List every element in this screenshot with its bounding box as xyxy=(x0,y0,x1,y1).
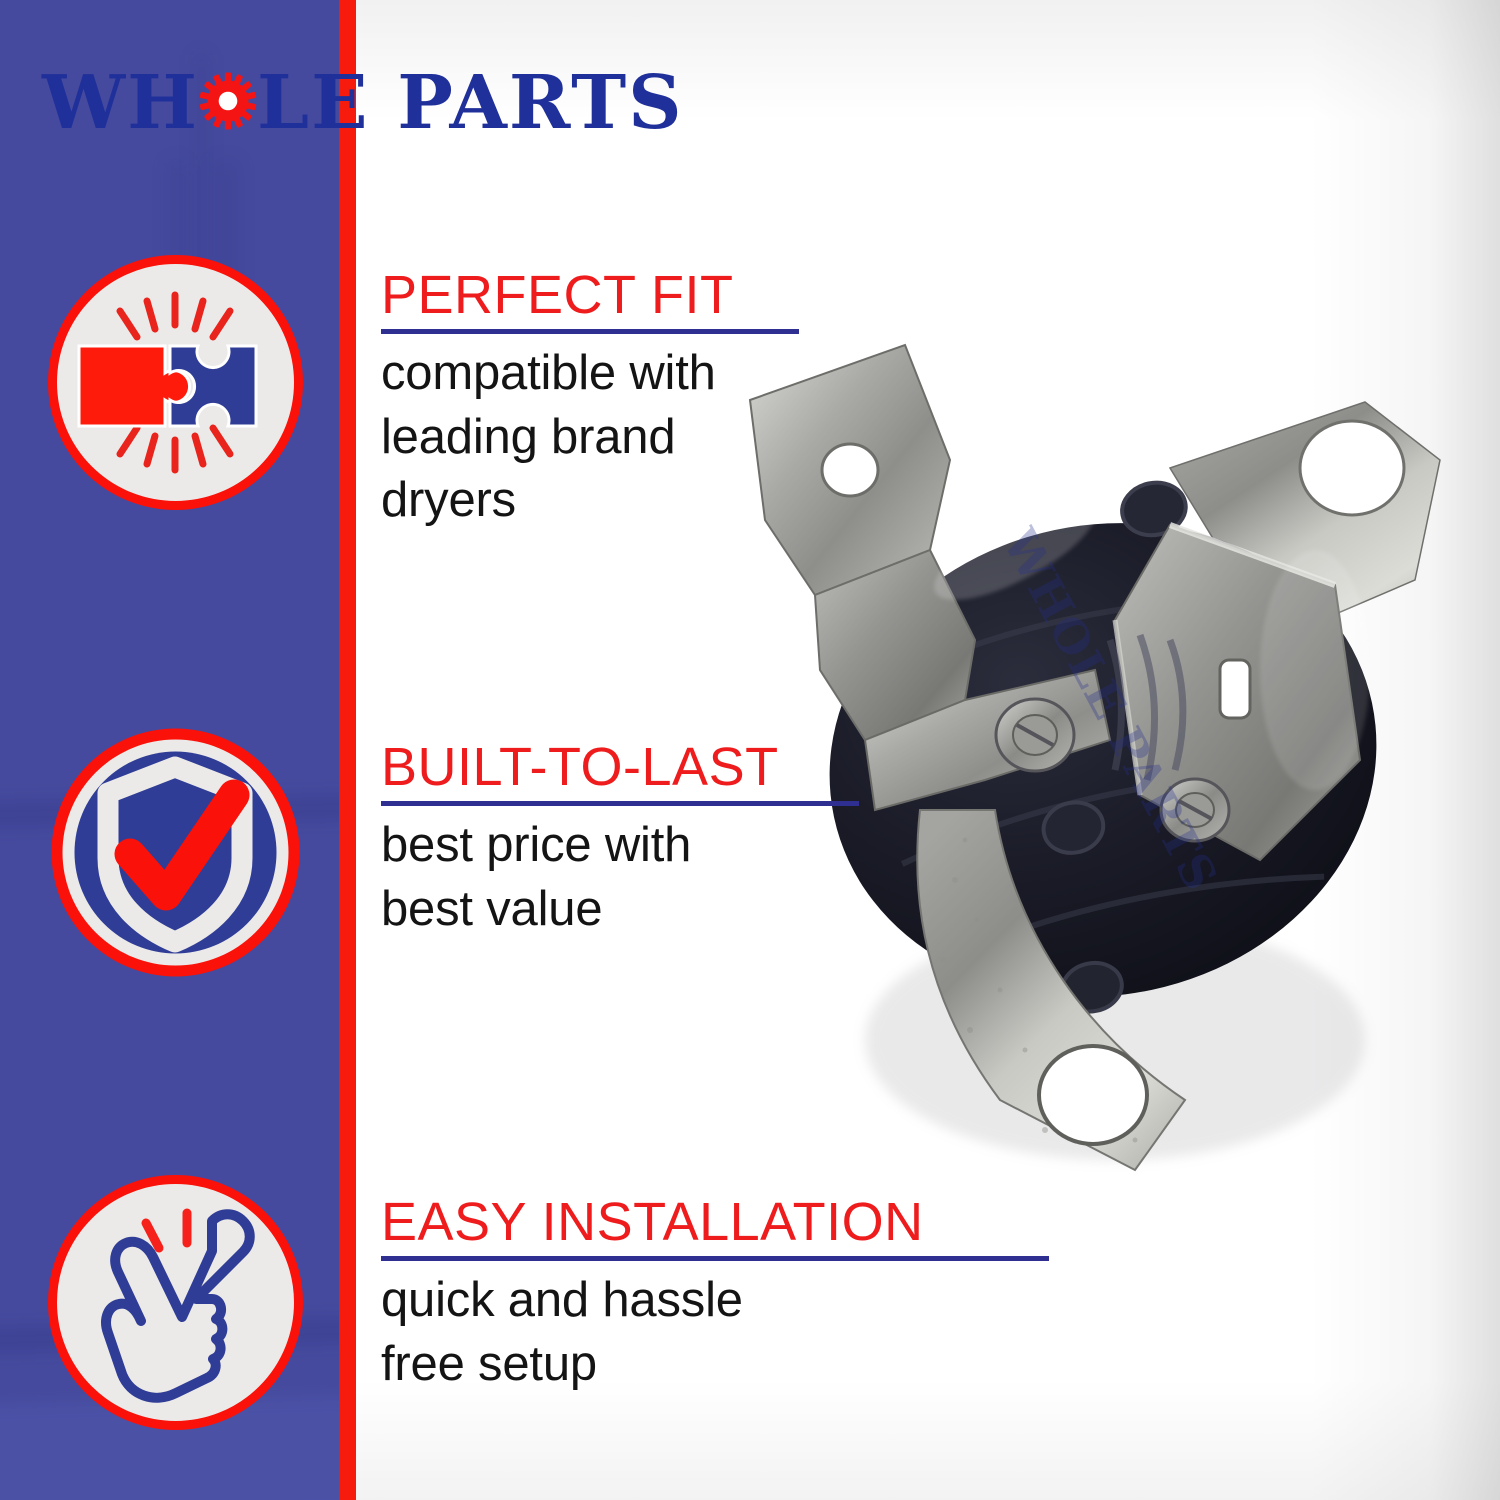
feature-easy-installation: EASY INSTALLATION quick and hassle free … xyxy=(381,1195,1049,1396)
feature-perfect-fit: PERFECT FIT compatible with leading bran… xyxy=(381,268,799,533)
feature-underline-rule xyxy=(381,1256,1049,1261)
feature-built-to-last: BUILT-TO-LAST best price with best value xyxy=(381,740,859,941)
infographic-canvas: WH xyxy=(0,0,1500,1500)
puzzle-pieces-icon xyxy=(46,253,305,512)
feature-underline-rule xyxy=(381,329,799,334)
feature-body: quick and hassle free setup xyxy=(381,1269,1049,1396)
logo-text-prefix: WH xyxy=(42,66,199,140)
red-vertical-divider xyxy=(339,0,356,1500)
feature-heading: BUILT-TO-LAST xyxy=(381,740,859,795)
pointing-hand-icon xyxy=(46,1173,305,1432)
feature-heading: EASY INSTALLATION xyxy=(381,1195,1049,1250)
feature-underline-rule xyxy=(381,801,859,806)
shield-check-icon xyxy=(46,723,305,982)
feature-body: compatible with leading brand dryers xyxy=(381,342,799,533)
feature-body: best price with best value xyxy=(381,814,859,941)
brand-logo: WH xyxy=(42,66,684,140)
gear-icon xyxy=(197,70,259,137)
feature-heading: PERFECT FIT xyxy=(381,268,799,323)
logo-text-suffix: LE PARTS xyxy=(257,66,684,140)
